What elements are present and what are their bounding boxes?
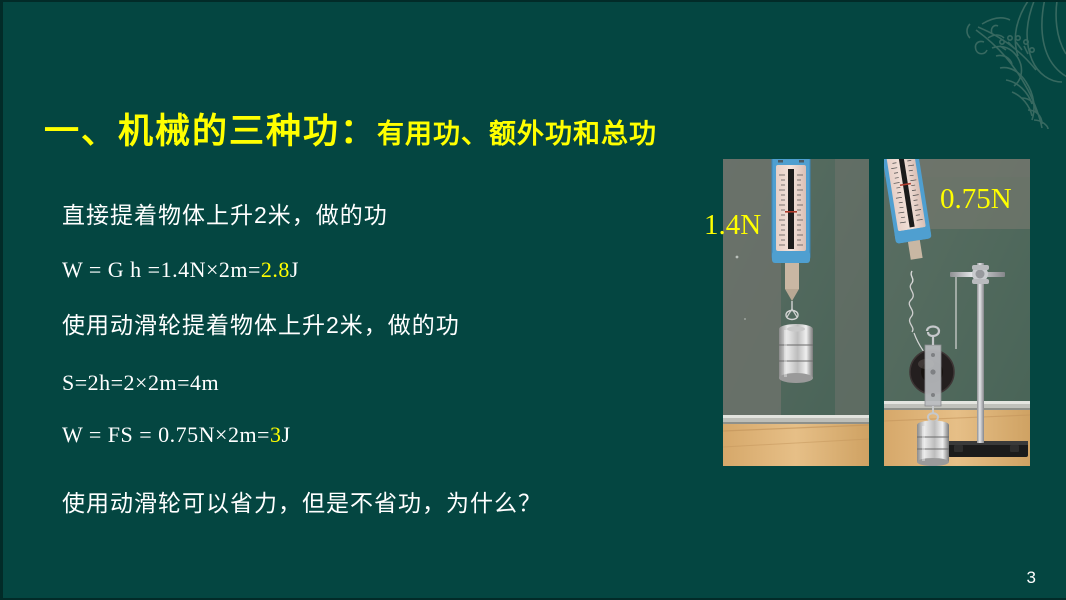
formula-2-pre: W = G h =1.4N×2m= bbox=[62, 257, 261, 282]
slide-number: 3 bbox=[1027, 568, 1036, 588]
photo-spring-scale-direct-lift bbox=[723, 159, 869, 466]
phoenix-ornament-icon bbox=[940, 0, 1066, 129]
body-content: 直接提着物体上升2米，做的功 W = G h =1.4N×2m=2.8J 使用动… bbox=[62, 196, 702, 518]
slide-canvas: 一、机械的三种功：有用功、额外功和总功 直接提着物体上升2米，做的功 W = G… bbox=[0, 0, 1066, 600]
body-line-2: W = G h =1.4N×2m=2.8J bbox=[62, 257, 702, 283]
formula-5-unit: J bbox=[281, 422, 290, 447]
formula-2-result: 2.8 bbox=[261, 257, 290, 282]
page-title: 一、机械的三种功：有用功、额外功和总功 bbox=[44, 103, 657, 154]
formula-2-unit: J bbox=[290, 257, 299, 282]
force-label-pulley-lift: 0.75N bbox=[940, 183, 1012, 216]
body-line-4: S=2h=2×2m=4m bbox=[62, 370, 702, 396]
force-label-direct-lift: 1.4N bbox=[704, 209, 761, 242]
formula-5-result: 3 bbox=[270, 422, 282, 447]
page-title-main: 一、机械的三种功： bbox=[44, 112, 377, 151]
body-line-6: 使用动滑轮可以省力，但是不省功，为什么？ bbox=[62, 484, 702, 518]
body-line-5: W = FS = 0.75N×2m=3J bbox=[62, 422, 702, 448]
page-title-sub: 有用功、额外功和总功 bbox=[377, 119, 657, 149]
body-line-1: 直接提着物体上升2米，做的功 bbox=[62, 196, 702, 230]
formula-5-pre: W = FS = 0.75N×2m= bbox=[62, 422, 270, 447]
body-line-3: 使用动滑轮提着物体上升2米，做的功 bbox=[62, 306, 702, 340]
